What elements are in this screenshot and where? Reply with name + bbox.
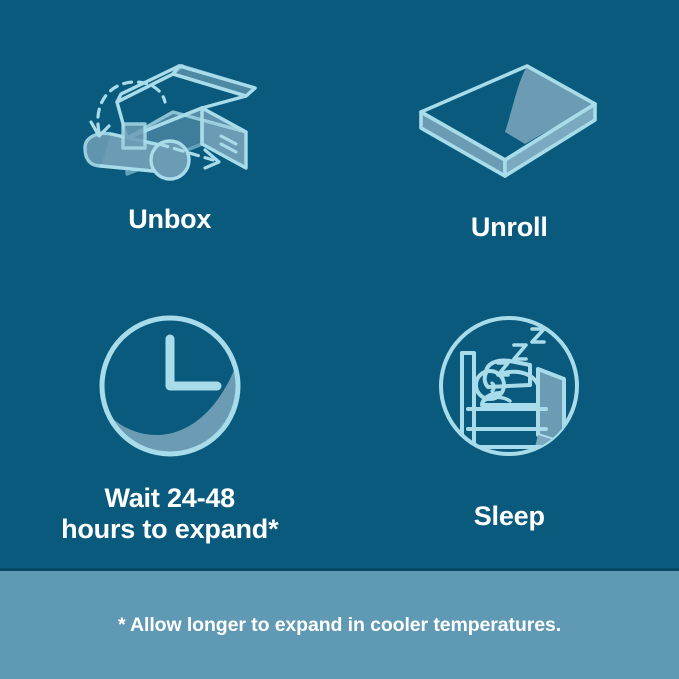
step-unroll: Unroll — [340, 0, 679, 285]
clock-icon — [95, 311, 245, 461]
footnote-text: * Allow longer to expand in cooler tempe… — [118, 614, 561, 637]
steps-grid: Unbox Unroll — [0, 0, 679, 570]
open-box-with-rolled-mattress-icon — [55, 44, 285, 184]
step-label-unbox: Unbox — [128, 204, 211, 235]
step-wait: Wait 24-48 hours to expand* — [0, 285, 340, 570]
step-sleep: Sleep — [340, 285, 679, 570]
person-sleeping-in-bed-icon — [434, 311, 584, 461]
step-unbox: Unbox — [0, 0, 340, 285]
step-label-wait-line2: hours to expand* — [61, 514, 278, 545]
step-label-wait-line1: Wait 24-48 — [61, 483, 278, 514]
step-label-sleep: Sleep — [474, 501, 545, 532]
flat-mattress-slab-icon — [409, 52, 609, 182]
step-label-unroll: Unroll — [471, 212, 548, 243]
step-label-wait: Wait 24-48 hours to expand* — [61, 483, 278, 545]
mattress-setup-infographic: Unbox Unroll — [0, 0, 679, 679]
footer-band: * Allow longer to expand in cooler tempe… — [0, 571, 679, 679]
